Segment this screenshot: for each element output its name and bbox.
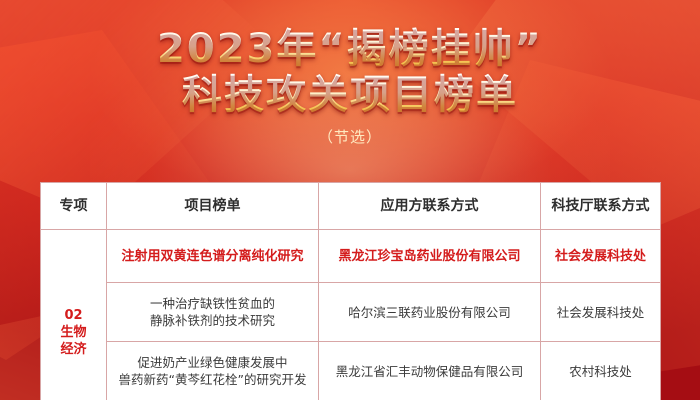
table-header: 专项 项目榜单 应用方联系方式 科技厅联系方式 bbox=[41, 183, 661, 230]
department-cell: 农村科技处 bbox=[541, 342, 661, 400]
project-cell: 促进奶产业绿色健康发展中 兽药新药“黄芩红花栓”的研究开发 bbox=[107, 342, 319, 400]
table-row: 一种治疗缺铁性贫血的 静脉补铁剂的技术研究 哈尔滨三联药业股份有限公司 社会发展… bbox=[41, 283, 661, 342]
applicant-cell: 哈尔滨三联药业股份有限公司 bbox=[319, 283, 541, 342]
project-cell: 注射用双黄连色谱分离纯化研究 bbox=[107, 230, 319, 283]
listing-table-container: 专项 项目榜单 应用方联系方式 科技厅联系方式 02 生物 经济 bbox=[40, 182, 660, 400]
project-line-1: 注射用双黄连色谱分离纯化研究 bbox=[111, 248, 314, 265]
department-cell: 社会发展科技处 bbox=[541, 230, 661, 283]
column-header-project: 项目榜单 bbox=[107, 183, 319, 230]
table-row: 02 生物 经济 注射用双黄连色谱分离纯化研究 黑龙江珍宝岛药业股份有限公司 社… bbox=[41, 230, 661, 283]
listing-table: 专项 项目榜单 应用方联系方式 科技厅联系方式 02 生物 经济 bbox=[40, 182, 661, 400]
category-line-1: 生物 bbox=[45, 324, 102, 341]
column-header-applicant: 应用方联系方式 bbox=[319, 183, 541, 230]
poster-title-line-2: 科技攻关项目榜单 bbox=[0, 72, 700, 118]
category-cell: 02 生物 经济 bbox=[41, 230, 107, 400]
project-cell: 一种治疗缺铁性贫血的 静脉补铁剂的技术研究 bbox=[107, 283, 319, 342]
project-line-2: 静脉补铁剂的技术研究 bbox=[111, 312, 314, 329]
department-cell: 社会发展科技处 bbox=[541, 283, 661, 342]
table-row: 促进奶产业绿色健康发展中 兽药新药“黄芩红花栓”的研究开发 黑龙江省汇丰动物保健… bbox=[41, 342, 661, 400]
table-header-row: 专项 项目榜单 应用方联系方式 科技厅联系方式 bbox=[41, 183, 661, 230]
project-line-1: 一种治疗缺铁性贫血的 bbox=[111, 295, 314, 312]
project-line-1: 促进奶产业绿色健康发展中 bbox=[111, 354, 314, 371]
poster-subtitle: （节选） bbox=[0, 126, 700, 147]
category-line-2: 经济 bbox=[45, 341, 102, 358]
poster-background: 2023年“揭榜挂帅” 科技攻关项目榜单 （节选） 专项 项目榜单 应用方联系方… bbox=[0, 0, 700, 400]
applicant-cell: 黑龙江省汇丰动物保健品有限公司 bbox=[319, 342, 541, 400]
poster-title-line-1: 2023年“揭榜挂帅” bbox=[0, 26, 700, 72]
category-code: 02 bbox=[45, 307, 102, 324]
column-header-department: 科技厅联系方式 bbox=[541, 183, 661, 230]
poster-title-block: 2023年“揭榜挂帅” 科技攻关项目榜单 （节选） bbox=[0, 26, 700, 147]
table-body: 02 生物 经济 注射用双黄连色谱分离纯化研究 黑龙江珍宝岛药业股份有限公司 社… bbox=[41, 230, 661, 400]
project-line-2: 兽药新药“黄芩红花栓”的研究开发 bbox=[111, 371, 314, 388]
column-header-category: 专项 bbox=[41, 183, 107, 230]
applicant-cell: 黑龙江珍宝岛药业股份有限公司 bbox=[319, 230, 541, 283]
